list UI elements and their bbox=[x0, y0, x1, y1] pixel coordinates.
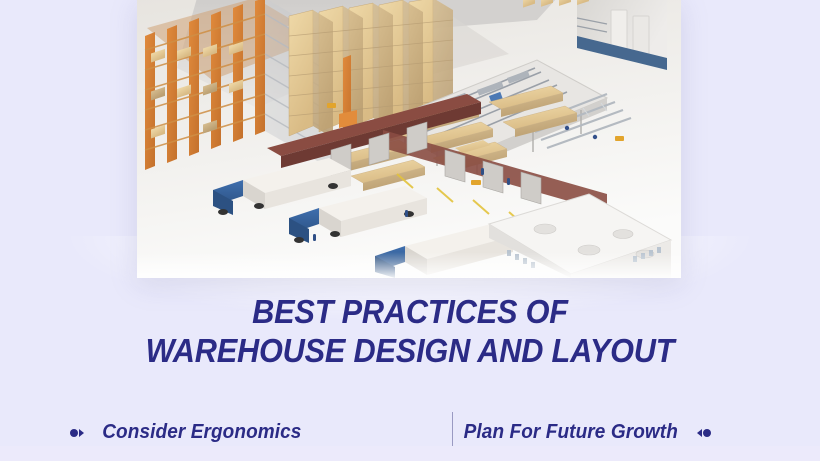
chevron-left-dot-icon bbox=[697, 429, 711, 437]
poster-title-line-2: WAREHOUSE DESIGN AND LAYOUT bbox=[29, 331, 792, 370]
warehouse-illustration bbox=[137, 0, 681, 278]
warehouse-hero-image bbox=[137, 0, 681, 278]
footer-band bbox=[0, 446, 820, 461]
key-point-label-left: Consider Ergonomics bbox=[102, 421, 301, 444]
poster-title-line-1: BEST PRACTICES OF bbox=[29, 292, 792, 331]
poster-title: BEST PRACTICES OF WAREHOUSE DESIGN AND L… bbox=[29, 292, 792, 370]
poster-canvas: BEST PRACTICES OF WAREHOUSE DESIGN AND L… bbox=[0, 0, 820, 461]
key-point-label-right: Plan For Future Growth bbox=[464, 421, 678, 444]
dot-chevron-right-icon bbox=[70, 429, 84, 437]
